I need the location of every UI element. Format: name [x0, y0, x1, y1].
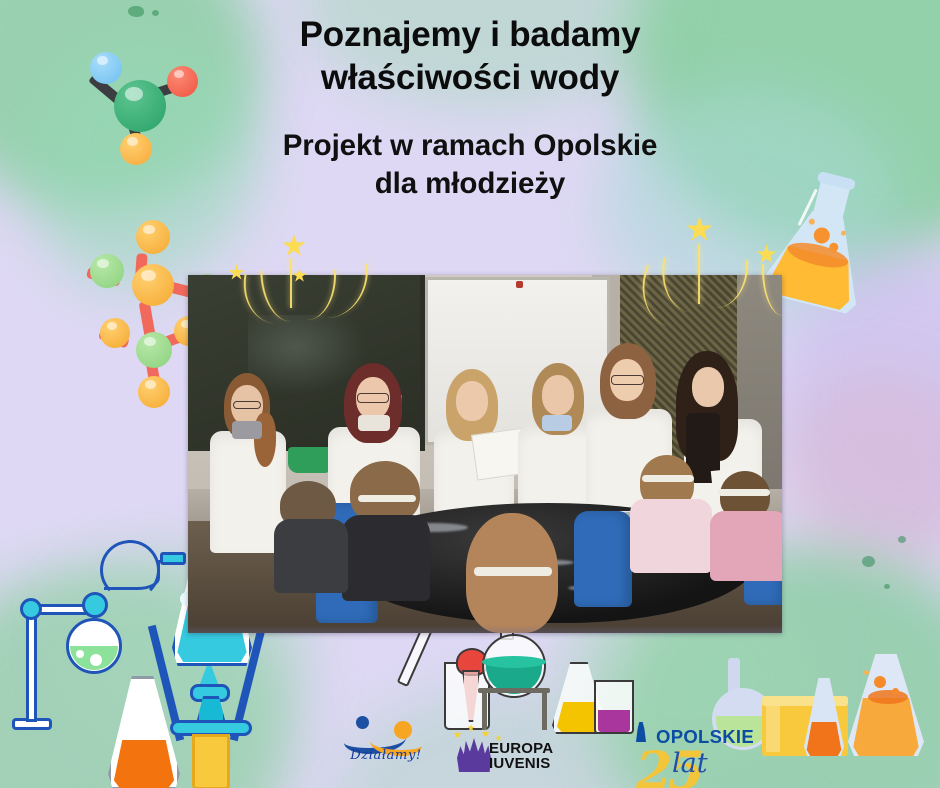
- title-block: Poznajemy i badamy właściwości wody Proj…: [0, 14, 940, 202]
- subtitle-line-2: dla młodzieży: [0, 165, 940, 202]
- safety-goggles: [718, 489, 770, 496]
- atom-orange-center: [132, 264, 174, 306]
- paint-speck: [898, 536, 906, 543]
- child-jacket: [630, 499, 712, 573]
- safety-goggles: [474, 567, 552, 576]
- logo-dzialamy-text: Działamy!: [340, 748, 432, 763]
- sparkle-trail: [712, 260, 748, 308]
- glasses: [357, 393, 389, 403]
- hair: [350, 461, 420, 523]
- face: [692, 367, 724, 407]
- logo-strip: Działamy! EUROPA IUVENIS 25 OPOLSKIE lat: [0, 698, 940, 788]
- child-jacket: [342, 515, 430, 601]
- sparkle-trail: [698, 244, 702, 304]
- logo-opolskie-text: OPOLSKIE: [656, 726, 754, 748]
- logo-opolskie[interactable]: 25 OPOLSKIE lat: [630, 712, 790, 774]
- face: [542, 375, 574, 415]
- firework-sparkle-right: [650, 206, 820, 321]
- flask-stopper: [82, 592, 108, 618]
- atom-orange: [138, 376, 170, 408]
- bubble: [864, 670, 869, 675]
- page-subtitle: Projekt w ramach Opolskie dla młodzieży: [0, 127, 940, 202]
- star-icon: [467, 724, 475, 732]
- project-photo: [188, 275, 782, 633]
- child-jacket: [710, 511, 782, 581]
- bubble: [76, 650, 84, 658]
- bubble: [892, 688, 899, 695]
- shirt-collar: [232, 421, 262, 439]
- sketch-tripod-top: [478, 688, 550, 693]
- sparkle-trail: [762, 264, 786, 316]
- photo-bottom-blend: [188, 625, 782, 633]
- photo-chair: [574, 511, 632, 607]
- face: [456, 381, 488, 421]
- atom-orange: [100, 318, 130, 348]
- star-icon: [292, 268, 307, 283]
- glasses: [611, 375, 644, 385]
- star-icon: [756, 244, 777, 265]
- paint-speck: [862, 556, 875, 567]
- poster-canvas: Poznajemy i badamy właściwości wody Proj…: [0, 0, 940, 788]
- bubble: [90, 654, 102, 666]
- shirt-collar: [358, 415, 390, 431]
- star-icon: [453, 730, 462, 739]
- logo-europa-iuvenis[interactable]: EUROPA IUVENIS: [455, 734, 573, 782]
- logo-opolskie-word: lat: [672, 748, 708, 779]
- page-title: Poznajemy i badamy właściwości wody: [0, 14, 940, 99]
- paint-speck: [884, 584, 890, 589]
- safety-goggles: [358, 495, 416, 502]
- title-line-2: właściwości wody: [0, 57, 940, 100]
- subtitle-line-1: Projekt w ramach Opolskie: [0, 127, 940, 164]
- tube-connector: [160, 552, 186, 565]
- sketch-liquid-surface: [482, 656, 546, 668]
- star-icon: [481, 729, 490, 738]
- logo-dzialamy[interactable]: Działamy!: [336, 714, 432, 770]
- logo-europa-line-2: IUVENIS: [489, 755, 550, 772]
- atom-green: [90, 254, 124, 288]
- condenser-tube: [104, 560, 160, 590]
- photo-whiteboard-marker: [516, 281, 523, 288]
- firework-sparkle-left-2: [290, 240, 360, 310]
- child-jacket: [274, 519, 348, 593]
- star-icon: [228, 264, 245, 281]
- shirt-collar: [542, 415, 572, 431]
- bubble: [874, 676, 886, 688]
- stand-clamp: [20, 598, 42, 620]
- atom-orange: [136, 220, 170, 254]
- title-line-1: Poznajemy i badamy: [0, 14, 940, 57]
- glasses: [233, 401, 261, 409]
- safety-goggles: [642, 475, 694, 482]
- atom-green-center: [136, 332, 172, 368]
- opolskie-flask-icon: [634, 722, 648, 742]
- star-icon: [686, 216, 713, 243]
